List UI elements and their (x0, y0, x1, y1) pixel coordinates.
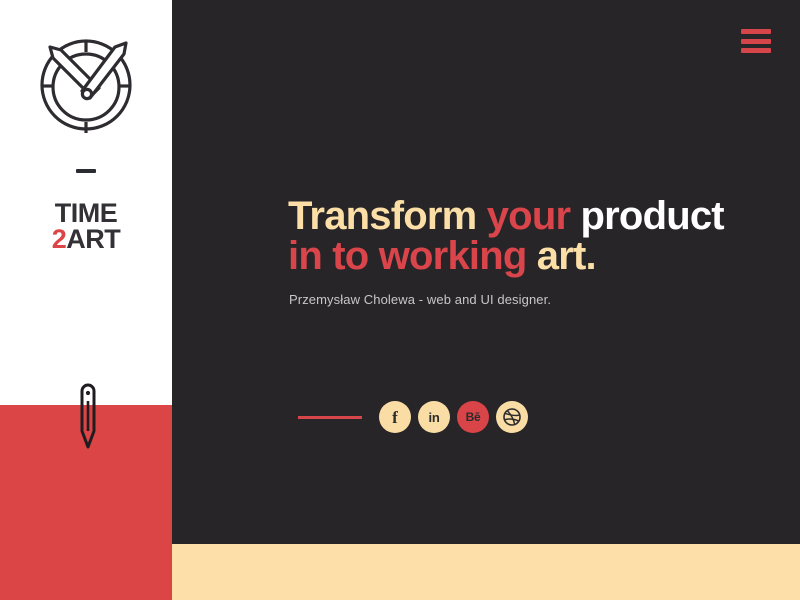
headline-line-2: in to working art. (288, 236, 748, 276)
menu-bar-3 (741, 48, 771, 53)
page-subtitle: Przemysław Cholewa - web and UI designer… (289, 292, 551, 307)
headline-word-your: your (487, 194, 581, 238)
wordmark-line-2: 2ART (0, 226, 172, 252)
social-link-facebook[interactable]: f (379, 401, 411, 433)
horizontal-rule (298, 416, 362, 419)
hamburger-menu-icon[interactable] (741, 29, 771, 53)
headline-word-art: art. (537, 234, 596, 278)
brand-wordmark: TIME 2ART (0, 200, 172, 253)
wordmark-accent: 2 (52, 224, 67, 254)
bottom-cream-band (172, 544, 800, 600)
wordmark-line-1: TIME (0, 200, 172, 226)
brand-sidebar: TIME 2ART (0, 0, 172, 600)
headline-word-product: product (581, 194, 724, 238)
pencil-icon (74, 381, 102, 451)
social-link-behance[interactable]: Bē (457, 401, 489, 433)
divider-dash-icon (76, 169, 96, 173)
menu-bar-1 (741, 29, 771, 34)
behance-icon: Bē (466, 411, 481, 423)
page-title: Transform your product in to working art… (288, 196, 748, 276)
dribbble-icon (502, 407, 522, 427)
menu-bar-2 (741, 39, 771, 44)
clock-arrows-icon (36, 36, 136, 136)
page-root: TIME 2ART Transform your product in to w… (0, 0, 800, 600)
headline-line-1: Transform your product (288, 196, 748, 236)
social-link-dribbble[interactable] (496, 401, 528, 433)
facebook-icon: f (392, 409, 398, 426)
headline-word-transform: Transform (288, 194, 487, 238)
linkedin-icon: in (429, 411, 440, 424)
social-links: f in Bē (298, 401, 528, 433)
wordmark-line-2-text: ART (66, 224, 120, 254)
headline-phrase-in-to-working: in to working (288, 234, 537, 278)
social-link-linkedin[interactable]: in (418, 401, 450, 433)
